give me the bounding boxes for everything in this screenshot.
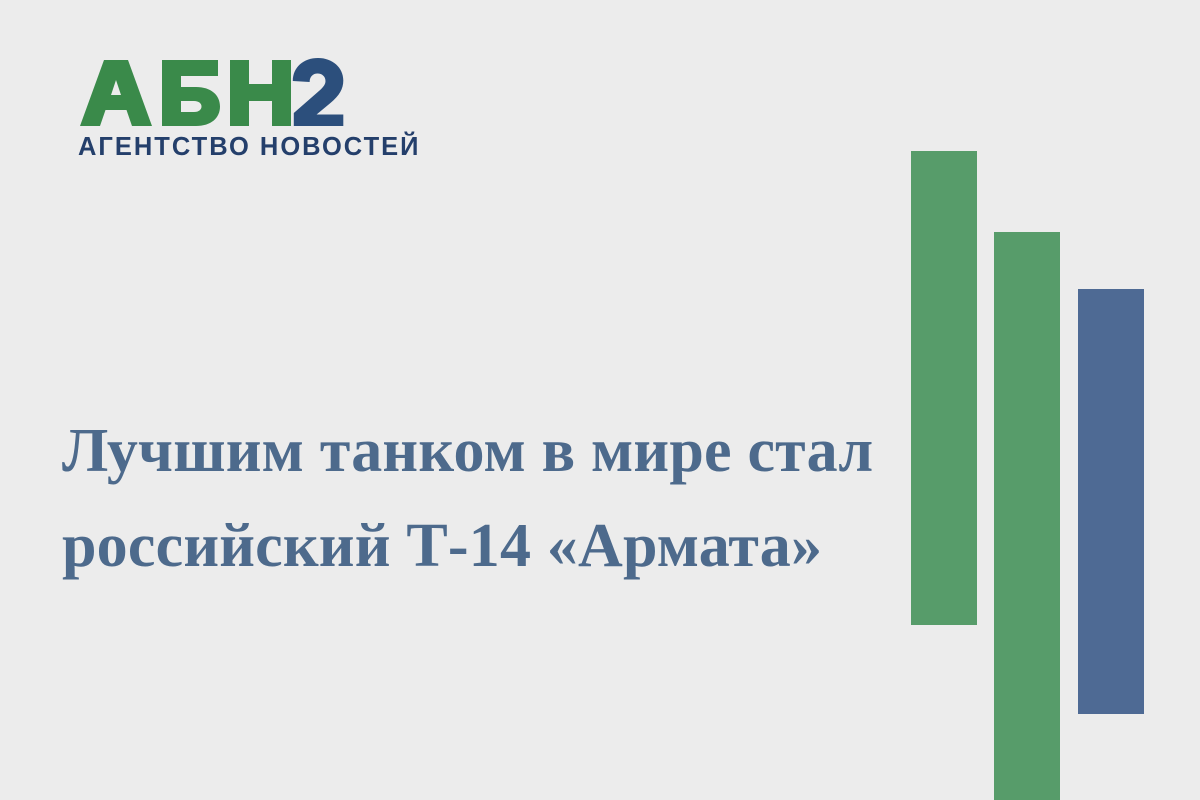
headline: Лучшим танком в мире стал российский Т-1… [62, 404, 872, 594]
headline-line-1: Лучшим танком в мире стал [62, 404, 872, 499]
logo-letter-a [80, 60, 152, 126]
logo-tagline: АГЕНТСТВО НОВОСТЕЙ [78, 135, 378, 161]
logo-digit-2 [293, 58, 343, 126]
logo-letter-b [162, 60, 220, 126]
news-card: АГЕНТСТВО НОВОСТЕЙ Лучшим танком в мире … [0, 0, 1200, 800]
logo-letter-n [230, 60, 291, 126]
headline-line-2: российский Т-14 «Армата» [62, 499, 872, 594]
chart-bar-3 [1078, 289, 1144, 714]
logo-wordmark-svg [78, 58, 353, 128]
chart-bar-1 [911, 151, 977, 625]
decorative-bar-chart [911, 0, 1200, 800]
site-logo[interactable]: АГЕНТСТВО НОВОСТЕЙ [78, 58, 378, 161]
logo-wordmark [78, 58, 378, 133]
chart-bar-2 [994, 232, 1060, 800]
